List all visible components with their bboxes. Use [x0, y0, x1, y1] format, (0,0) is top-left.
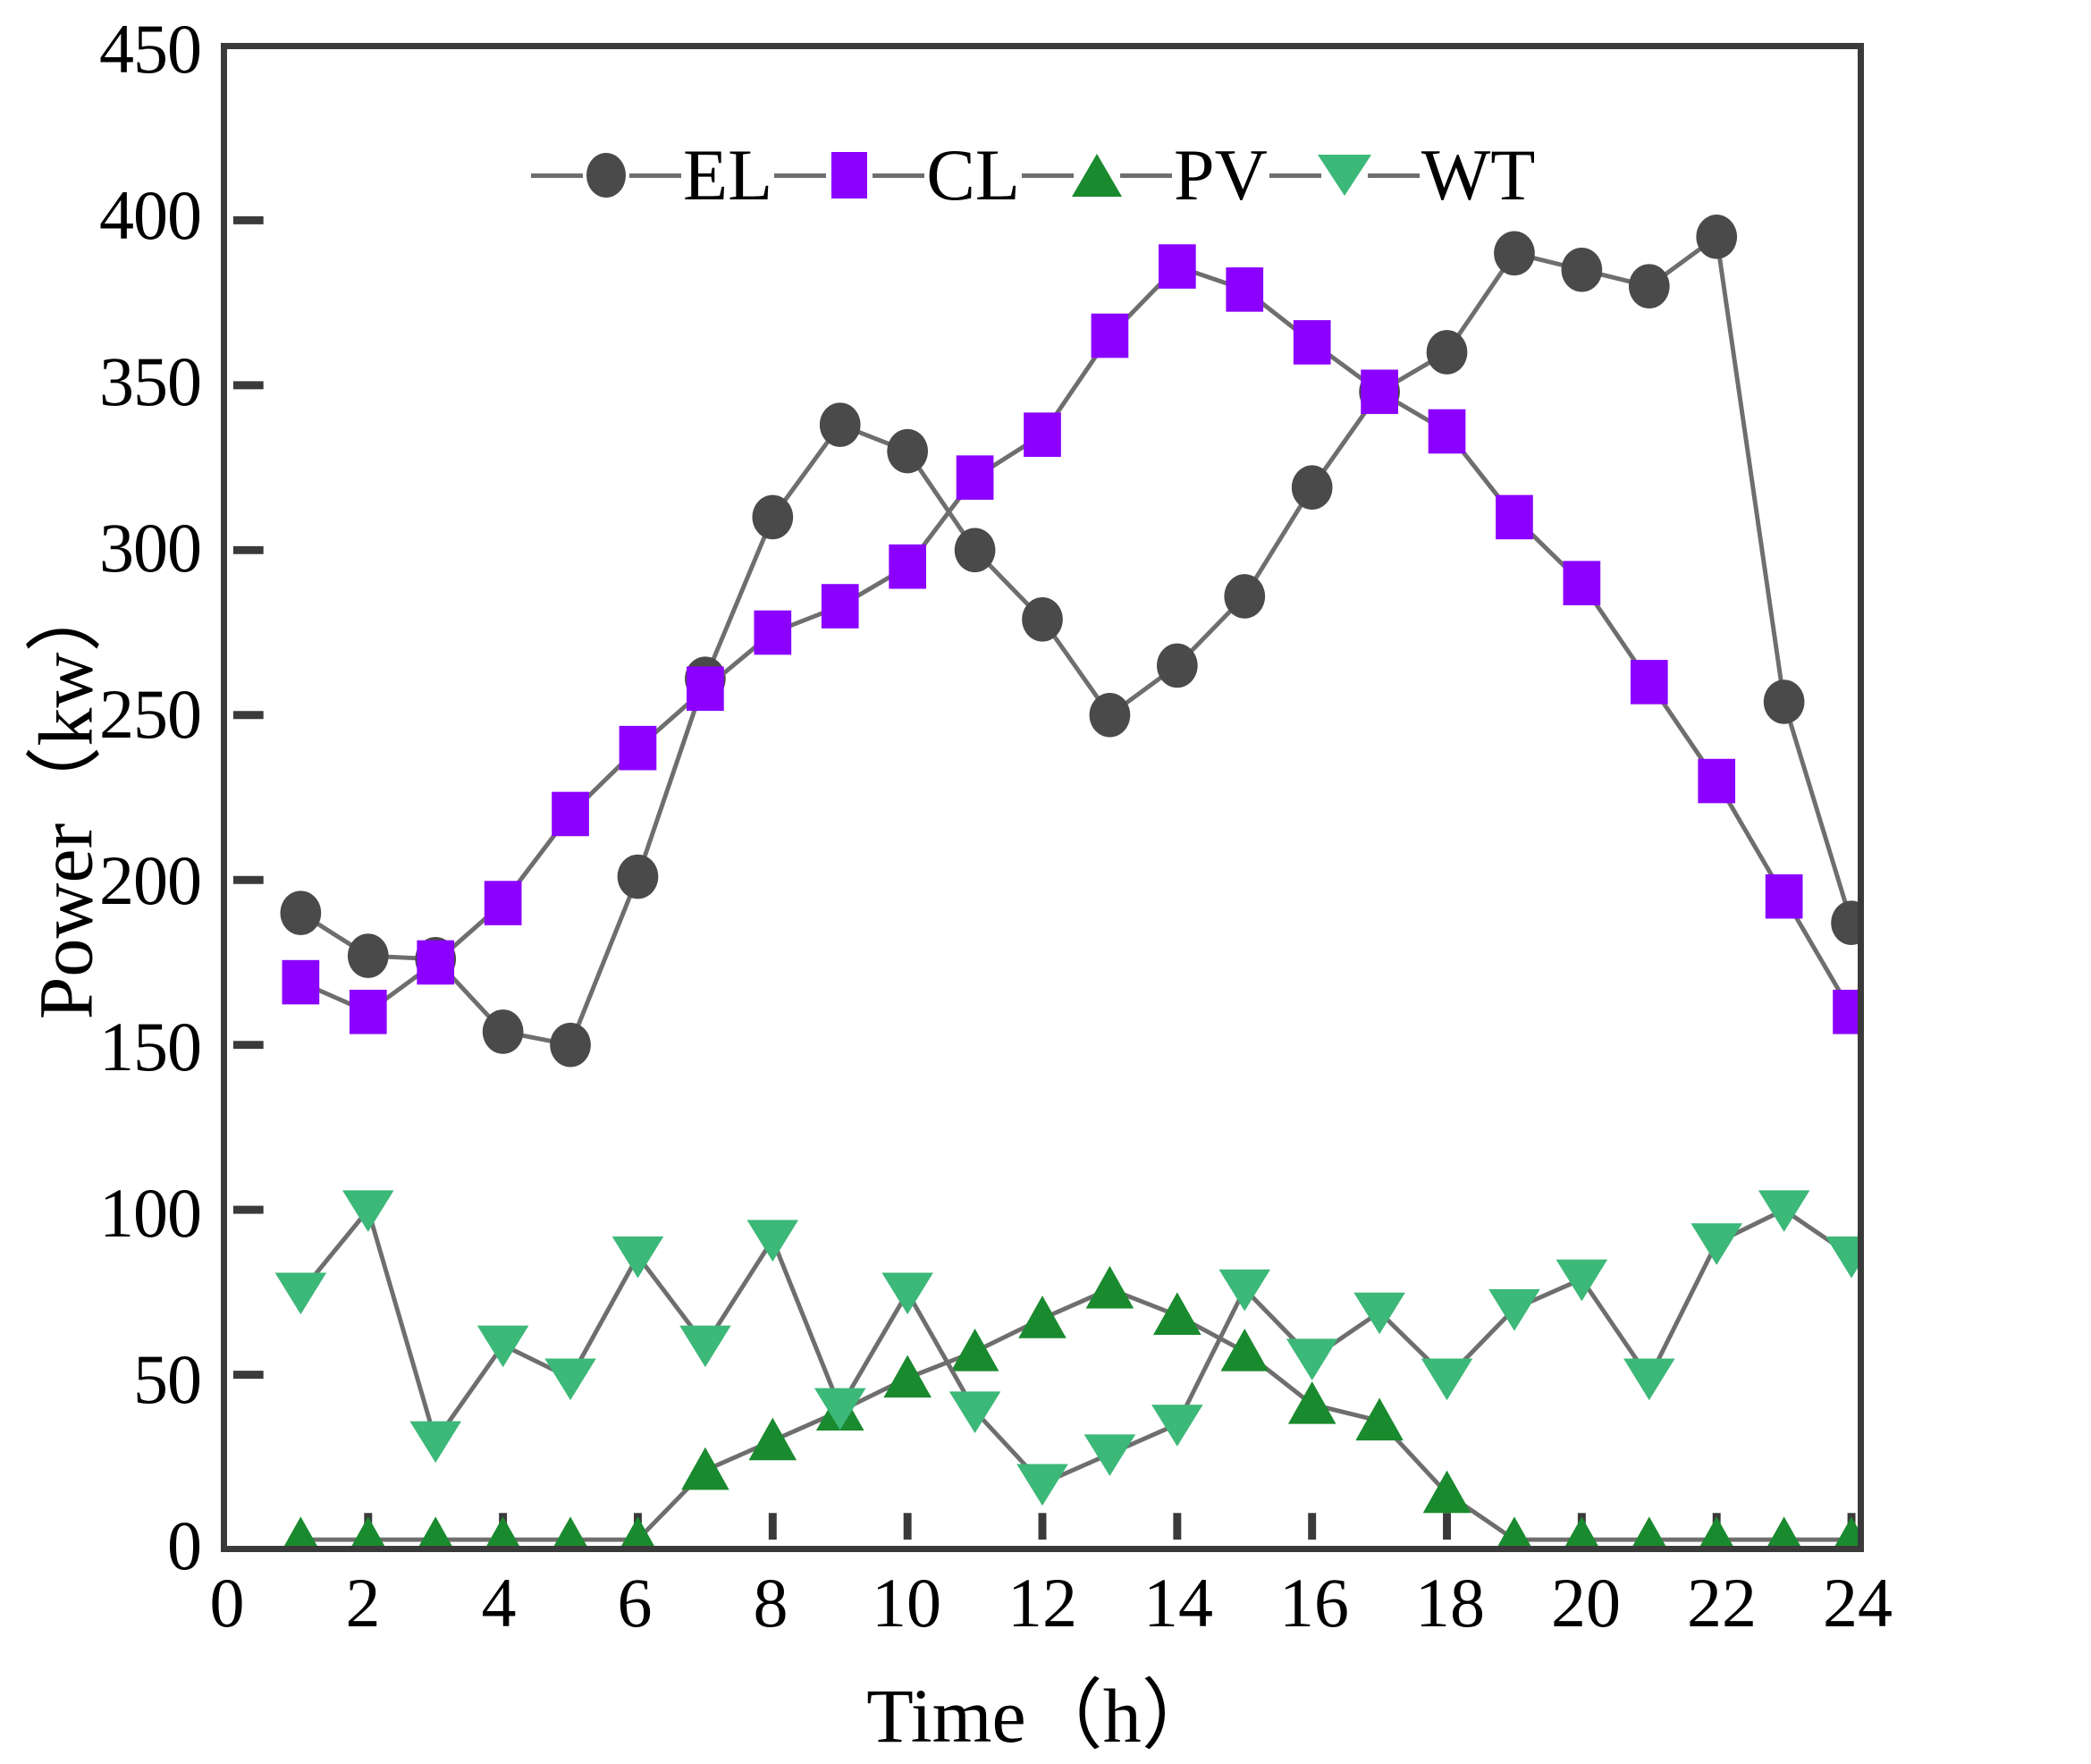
data-point-marker [1496, 495, 1533, 540]
data-point-marker [1159, 244, 1196, 289]
x-tick-label: 8 [754, 1566, 788, 1640]
data-point-marker [754, 611, 791, 655]
plot-area: ELCLPVWT [221, 43, 1864, 1552]
data-point-marker [1294, 320, 1331, 365]
data-point-marker [881, 1273, 933, 1315]
data-point-marker [1564, 561, 1601, 605]
square-marker-icon [826, 152, 873, 198]
data-point-marker [544, 1358, 596, 1400]
data-point-marker [1691, 1223, 1742, 1265]
y-tick-label: 300 [22, 513, 201, 583]
data-point-marker [955, 528, 996, 573]
x-axis-title: Time（h） [221, 1652, 1864, 1764]
data-series-layer [227, 49, 1858, 1546]
x-tick-label: 4 [482, 1566, 517, 1640]
data-point-marker [348, 933, 389, 978]
legend: ELCLPVWT [531, 135, 1537, 215]
data-point-marker [1022, 597, 1063, 642]
series-line [300, 1289, 1851, 1540]
x-axis-tick-labels: 024681012141618202224 [221, 1566, 1864, 1665]
data-point-marker [1226, 267, 1263, 312]
chart-figure: Power（kw） 050100150200250300350400450 EL… [0, 0, 2091, 1746]
legend-label: PV [1172, 139, 1269, 212]
x-tick-label: 20 [1551, 1566, 1621, 1640]
data-point-marker [749, 1418, 797, 1461]
data-point-marker [883, 1355, 932, 1398]
data-point-marker [1623, 1358, 1675, 1400]
data-point-marker [951, 1329, 999, 1372]
data-point-marker [752, 495, 793, 540]
data-point-marker [1421, 1358, 1473, 1400]
legend-line-segment [531, 173, 583, 178]
data-point-marker [820, 402, 861, 447]
data-point-marker [687, 666, 724, 711]
data-point-marker [1698, 759, 1735, 804]
marker-shape [831, 152, 867, 198]
data-point-marker [485, 881, 522, 925]
legend-line-segment [774, 173, 826, 178]
data-point-marker [1288, 1381, 1336, 1424]
data-point-marker [350, 990, 387, 1034]
data-point-marker [949, 1391, 1001, 1433]
data-point-marker [1153, 1292, 1201, 1335]
legend-line-segment [1368, 173, 1420, 178]
series-wt [275, 1190, 1858, 1506]
data-point-marker [1224, 574, 1265, 619]
data-point-marker [1292, 465, 1333, 510]
data-point-marker [1092, 314, 1129, 359]
data-point-marker [1629, 264, 1670, 308]
data-point-marker [1556, 1260, 1608, 1302]
x-tick-label: 0 [210, 1566, 245, 1640]
data-point-marker [1355, 1397, 1404, 1440]
data-point-marker [620, 726, 657, 771]
data-point-marker [417, 941, 454, 985]
data-point-marker [1429, 409, 1466, 454]
legend-line-segment [873, 173, 924, 178]
series-line [300, 266, 1851, 1012]
y-axis-tick-labels: 050100150200250300350400450 [0, 0, 221, 1746]
data-point-marker [1084, 1434, 1136, 1476]
legend-label: CL [924, 139, 1022, 212]
data-point-marker [282, 960, 320, 1005]
triangle-up-marker-icon [1074, 152, 1120, 198]
data-point-marker [1220, 1329, 1269, 1372]
x-tick-label: 14 [1143, 1566, 1213, 1640]
legend-entry-cl[interactable]: CL [774, 135, 1022, 215]
marker-shape [586, 153, 626, 198]
data-point-marker [747, 1220, 799, 1262]
y-tick-label: 350 [22, 347, 201, 417]
data-point-marker [889, 544, 926, 589]
legend-entry-wt[interactable]: WT [1269, 135, 1537, 215]
y-tick-label: 0 [22, 1511, 201, 1581]
data-point-marker [1361, 369, 1398, 414]
circle-marker-icon [583, 152, 629, 198]
data-point-marker [1758, 1190, 1810, 1232]
y-tick-label: 150 [22, 1012, 201, 1082]
data-point-marker [342, 1190, 394, 1232]
x-tick-label: 18 [1415, 1566, 1485, 1640]
data-point-marker [822, 584, 859, 629]
y-tick-label: 100 [22, 1178, 201, 1248]
y-tick-label: 450 [22, 14, 201, 84]
data-point-marker [552, 792, 589, 837]
legend-line-segment [629, 173, 681, 178]
x-tick-label: 10 [872, 1566, 941, 1640]
data-point-marker [1764, 679, 1805, 724]
data-point-marker [483, 1009, 524, 1054]
data-point-marker [887, 429, 928, 474]
series-cl [282, 244, 1858, 1034]
data-point-marker [275, 1273, 327, 1315]
data-point-marker [1427, 330, 1468, 375]
data-point-marker [1631, 660, 1668, 705]
marker-shape [1072, 154, 1122, 197]
data-point-marker [679, 1326, 731, 1368]
legend-label: EL [681, 139, 774, 212]
data-point-marker [281, 890, 322, 935]
data-point-marker [1151, 1405, 1203, 1447]
data-point-marker [618, 855, 659, 899]
data-point-marker [1494, 231, 1535, 275]
data-point-marker [1831, 900, 1858, 945]
data-point-marker [477, 1326, 529, 1368]
legend-line-segment [1120, 173, 1172, 178]
x-tick-label: 22 [1687, 1566, 1757, 1640]
data-point-marker [409, 1422, 461, 1464]
legend-label: WT [1420, 139, 1537, 212]
data-point-marker [550, 1023, 591, 1068]
data-point-marker [1090, 693, 1131, 738]
y-tick-label: 50 [22, 1345, 201, 1414]
marker-shape [1318, 155, 1371, 196]
data-point-marker [1157, 644, 1198, 688]
data-point-marker [1024, 412, 1061, 457]
data-point-marker [1016, 1464, 1068, 1507]
legend-line-segment [1269, 173, 1321, 178]
data-point-marker [1833, 990, 1858, 1034]
x-tick-label: 6 [618, 1566, 653, 1640]
data-point-marker [1696, 215, 1737, 259]
data-point-marker [957, 455, 994, 500]
data-point-marker [1086, 1266, 1134, 1309]
y-tick-label: 200 [22, 846, 201, 916]
triangle-down-marker-icon [1321, 152, 1368, 198]
x-tick-label: 24 [1823, 1566, 1893, 1640]
x-tick-label: 2 [346, 1566, 381, 1640]
legend-entry-pv[interactable]: PV [1022, 135, 1269, 215]
series-pv [277, 1266, 1858, 1546]
data-point-marker [1562, 248, 1603, 292]
y-tick-label: 250 [22, 679, 201, 749]
data-point-marker [1825, 1236, 1858, 1279]
data-point-marker [1018, 1296, 1067, 1338]
y-tick-label: 400 [22, 181, 201, 250]
data-point-marker [681, 1447, 729, 1490]
x-tick-label: 12 [1008, 1566, 1077, 1640]
series-line [300, 1210, 1851, 1483]
x-tick-label: 16 [1279, 1566, 1349, 1640]
data-point-marker [1286, 1338, 1338, 1380]
legend-line-segment [1022, 173, 1074, 178]
data-point-marker [1766, 874, 1803, 919]
data-point-marker [612, 1236, 664, 1279]
legend-entry-el[interactable]: EL [531, 135, 774, 215]
